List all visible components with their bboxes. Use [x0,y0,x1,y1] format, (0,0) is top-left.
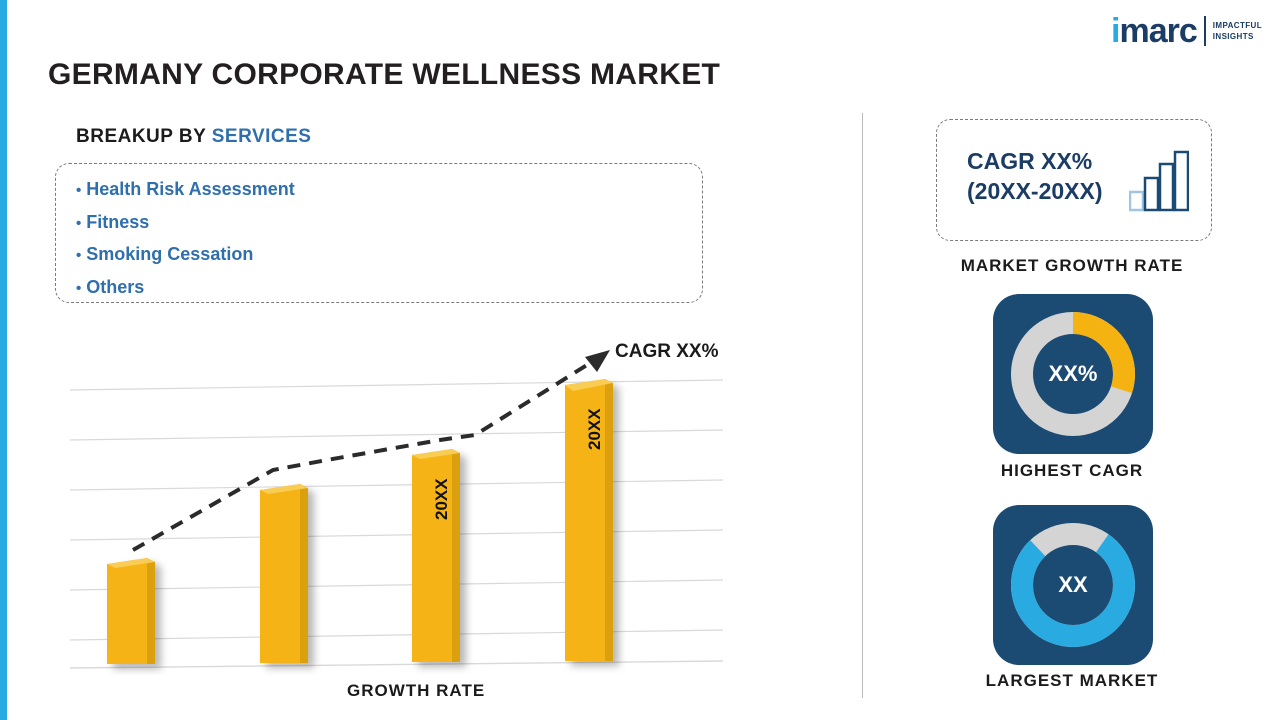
page-title: GERMANY CORPORATE WELLNESS MARKET [48,58,720,92]
highest-cagr-value: XX% [1049,361,1098,387]
trend-line [133,350,610,550]
cagr-period: (20XX-20XX) [967,176,1103,206]
market-growth-rate-caption: MARKET GROWTH RATE [862,256,1280,276]
largest-market-card: XX [993,505,1153,665]
list-item: • Others [76,272,295,305]
bar-chart-icon [1129,150,1189,217]
bar-label-4: 20XX [585,408,605,450]
largest-market-caption: LARGEST MARKET [862,671,1280,691]
highest-cagr-caption: HIGHEST CAGR [862,461,1280,481]
services-list: • Health Risk Assessment • Fitness • Smo… [76,174,295,304]
service-label: Fitness [86,212,149,232]
cagr-value: CAGR XX% [967,146,1103,176]
logo-tagline: IMPACTFUL INSIGHTS [1213,20,1262,42]
bar-2 [260,484,308,663]
logo-text-i: i [1111,14,1119,48]
bullet-icon: • [76,280,81,297]
trend-annotation: CAGR XX% [615,341,718,363]
service-label: Health Risk Assessment [86,179,294,199]
cagr-box-text: CAGR XX% (20XX-20XX) [967,146,1103,206]
chart-x-axis-label: GROWTH RATE [347,681,485,701]
highest-cagr-card: XX% [993,294,1153,454]
list-item: • Health Risk Assessment [76,174,295,207]
growth-bar-chart: 20XX 20XX [55,330,755,675]
list-item: • Smoking Cessation [76,239,295,272]
bullet-icon: • [76,215,81,232]
services-box: • Health Risk Assessment • Fitness • Smo… [55,163,703,303]
bar-1 [107,558,155,664]
breakup-heading: BREAKUP BY SERVICES [76,126,311,148]
service-label: Others [86,277,144,297]
bullet-icon: • [76,182,81,199]
breakup-highlight: SERVICES [212,126,312,147]
imarc-logo: i marc IMPACTFUL INSIGHTS [1111,14,1262,48]
service-label: Smoking Cessation [86,244,253,264]
largest-market-value: XX [1058,572,1087,598]
chart-bars [55,330,755,675]
bar-label-3: 20XX [432,478,452,520]
left-accent-bar [0,0,7,720]
bullet-icon: • [76,247,81,264]
vertical-divider [862,113,863,698]
breakup-prefix: BREAKUP BY [76,126,212,147]
logo-divider [1204,16,1206,46]
logo-text-marc: marc [1119,14,1196,48]
cagr-box: CAGR XX% (20XX-20XX) [936,119,1212,241]
list-item: • Fitness [76,207,295,240]
